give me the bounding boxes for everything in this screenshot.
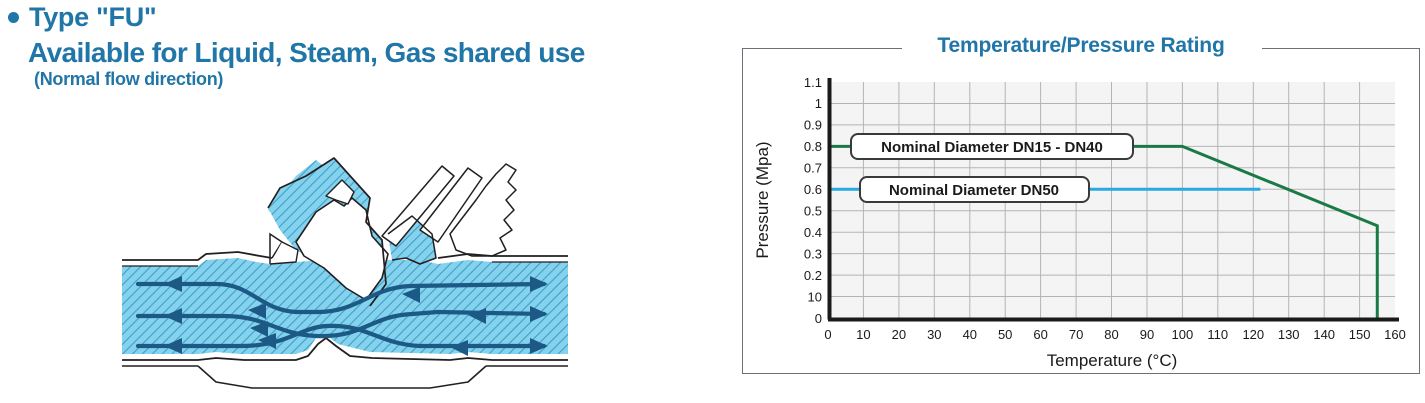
- product-description-section: Type "FU" Available for Liquid, Steam, G…: [0, 0, 730, 403]
- svg-text:0.2: 0.2: [804, 268, 822, 283]
- svg-text:0.9: 0.9: [804, 118, 822, 133]
- svg-text:80: 80: [1104, 327, 1118, 342]
- svg-text:Nominal Diameter DN15 - DN40: Nominal Diameter DN15 - DN40: [881, 139, 1103, 156]
- svg-text:150: 150: [1349, 327, 1371, 342]
- temperature-pressure-chart-panel: Temperature/Pressure Rating: [742, 34, 1422, 376]
- svg-text:0.7: 0.7: [804, 161, 822, 176]
- page-title: Type "FU": [29, 4, 156, 31]
- svg-text:50: 50: [998, 327, 1012, 342]
- svg-text:130: 130: [1278, 327, 1300, 342]
- svg-text:1.1: 1.1: [804, 75, 822, 90]
- svg-text:160: 160: [1384, 327, 1406, 342]
- svg-text:0: 0: [815, 311, 822, 326]
- svg-text:70: 70: [1069, 327, 1083, 342]
- legend-label-dn15-dn40: Nominal Diameter DN15 - DN40: [851, 134, 1133, 159]
- x-axis-label: Temperature (°C): [1047, 351, 1178, 370]
- svg-text:0.8: 0.8: [804, 139, 822, 154]
- svg-text:0.6: 0.6: [804, 182, 822, 197]
- svg-text:90: 90: [1140, 327, 1154, 342]
- svg-text:0: 0: [824, 327, 831, 342]
- y-axis-label: Pressure (Mpa): [753, 141, 772, 258]
- svg-text:120: 120: [1242, 327, 1264, 342]
- svg-text:10: 10: [808, 290, 822, 305]
- heading-block: Type "FU" Available for Liquid, Steam, G…: [8, 0, 723, 89]
- svg-text:60: 60: [1033, 327, 1047, 342]
- bullet-dot-icon: [8, 12, 19, 23]
- chart-plot-container: 1.1 1 0.9 0.8 0.7 0.6 0.5 0.4 0.3 0.2 10…: [742, 48, 1420, 374]
- svg-text:0.4: 0.4: [804, 225, 822, 240]
- flow-direction-note: (Normal flow direction): [34, 70, 723, 89]
- svg-text:0.3: 0.3: [804, 247, 822, 262]
- svg-text:40: 40: [963, 327, 977, 342]
- legend-label-dn50: Nominal Diameter DN50: [860, 177, 1089, 202]
- svg-text:30: 30: [927, 327, 941, 342]
- svg-text:140: 140: [1313, 327, 1335, 342]
- chart-title: Temperature/Pressure Rating: [742, 34, 1420, 58]
- svg-text:1: 1: [815, 96, 822, 111]
- type-heading-row: Type "FU": [8, 0, 723, 34]
- svg-text:10: 10: [856, 327, 870, 342]
- valve-cross-section-diagram: [120, 138, 570, 400]
- svg-text:100: 100: [1172, 327, 1194, 342]
- svg-text:Nominal Diameter DN50: Nominal Diameter DN50: [889, 182, 1059, 199]
- svg-text:110: 110: [1207, 327, 1228, 342]
- svg-text:0.5: 0.5: [804, 204, 822, 219]
- svg-text:20: 20: [892, 327, 906, 342]
- availability-text: Available for Liquid, Steam, Gas shared …: [28, 38, 723, 67]
